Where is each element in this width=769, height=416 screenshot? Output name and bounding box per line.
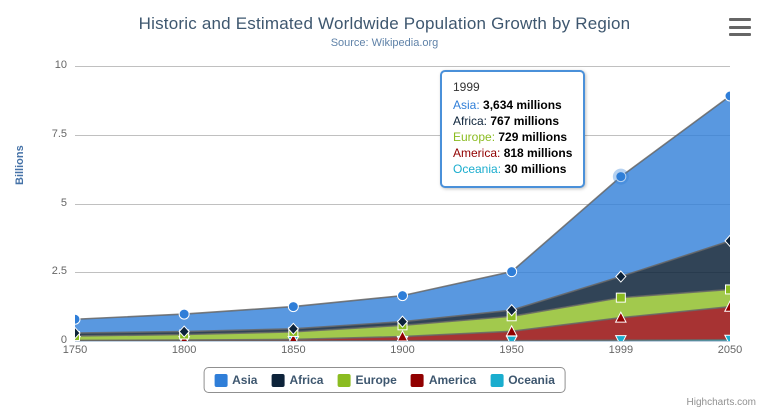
tooltip-series-value: 729 millions [498, 130, 567, 144]
legend-item-asia[interactable]: Asia [214, 373, 257, 387]
legend-label: Europe [355, 373, 396, 387]
legend-swatch-asia [214, 374, 227, 387]
tooltip-series-name: America: [453, 146, 504, 160]
legend-swatch-africa [271, 374, 284, 387]
chart-title: Historic and Estimated Worldwide Populat… [0, 14, 769, 34]
legend-item-africa[interactable]: Africa [271, 373, 323, 387]
tooltip-row-africa: Africa: 767 millions [453, 113, 572, 129]
legend-item-america[interactable]: America [411, 373, 476, 387]
series-plot [75, 66, 730, 341]
legend-swatch-europe [337, 374, 350, 387]
tooltip-series-value: 767 millions [490, 114, 559, 128]
tooltip-row-europe: Europe: 729 millions [453, 129, 572, 145]
x-axis-tick-1750: 1750 [63, 344, 87, 356]
tooltip-row-america: America: 818 millions [453, 145, 572, 161]
menu-bar-2 [729, 26, 751, 29]
legend-label: America [429, 373, 476, 387]
highcharts-credit[interactable]: Highcharts.com [687, 397, 756, 408]
tooltip-header: 1999 [453, 79, 572, 97]
point-asia-1850[interactable] [288, 302, 298, 312]
legend-swatch-oceania [490, 374, 503, 387]
gridline-0 [75, 341, 730, 342]
x-axis-tick-1950: 1950 [499, 344, 523, 356]
highcharts-container: Historic and Estimated Worldwide Populat… [0, 0, 769, 416]
chart-subtitle: Source: Wikipedia.org [0, 37, 769, 49]
y-axis-tick-0: 0 [23, 334, 67, 346]
legend-label: Africa [289, 373, 323, 387]
point-asia-1950[interactable] [507, 267, 517, 277]
x-axis-tick-1800: 1800 [172, 344, 196, 356]
x-axis-tick-1900: 1900 [390, 344, 414, 356]
legend-item-europe[interactable]: Europe [337, 373, 396, 387]
chart-legend[interactable]: AsiaAfricaEuropeAmericaOceania [203, 367, 566, 393]
y-axis-tick-7.5: 7.5 [23, 128, 67, 140]
tooltip-series-name: Asia: [453, 98, 483, 112]
hamburger-menu-icon[interactable] [729, 18, 751, 36]
legend-swatch-america [411, 374, 424, 387]
y-axis-tick-2.5: 2.5 [23, 265, 67, 277]
point-asia-1800[interactable] [179, 309, 189, 319]
legend-label: Oceania [508, 373, 555, 387]
y-axis-tick-5: 5 [23, 197, 67, 209]
plot-area [75, 66, 730, 341]
menu-bar-3 [729, 33, 751, 36]
tooltip-series-name: Oceania: [453, 162, 504, 176]
x-axis-tick-labels: 1750180018501900195019992050 [75, 344, 730, 364]
tooltip-series-value: 3,634 millions [483, 98, 562, 112]
legend-label: Asia [232, 373, 257, 387]
menu-bar-1 [729, 18, 751, 21]
tooltip-series-name: Africa: [453, 114, 490, 128]
point-asia-1900[interactable] [398, 291, 408, 301]
tooltip: 1999 Asia: 3,634 millionsAfrica: 767 mil… [440, 70, 585, 188]
x-axis-tick-2050: 2050 [718, 344, 742, 356]
tooltip-rows: Asia: 3,634 millionsAfrica: 767 millions… [453, 97, 572, 177]
x-axis-tick-1999: 1999 [609, 344, 633, 356]
point-europe-2050[interactable] [726, 285, 731, 294]
tooltip-series-value: 30 millions [504, 162, 566, 176]
tooltip-series-name: Europe: [453, 130, 498, 144]
point-halo-asia-1999 [613, 169, 629, 185]
tooltip-row-asia: Asia: 3,634 millions [453, 97, 572, 113]
y-axis-tick-10: 10 [23, 59, 67, 71]
legend-item-oceania[interactable]: Oceania [490, 373, 555, 387]
y-axis-tick-labels: 02.557.510 [23, 66, 67, 341]
tooltip-series-value: 818 millions [504, 146, 573, 160]
point-europe-1999[interactable] [616, 293, 625, 302]
tooltip-row-oceania: Oceania: 30 millions [453, 161, 572, 177]
x-axis-tick-1850: 1850 [281, 344, 305, 356]
